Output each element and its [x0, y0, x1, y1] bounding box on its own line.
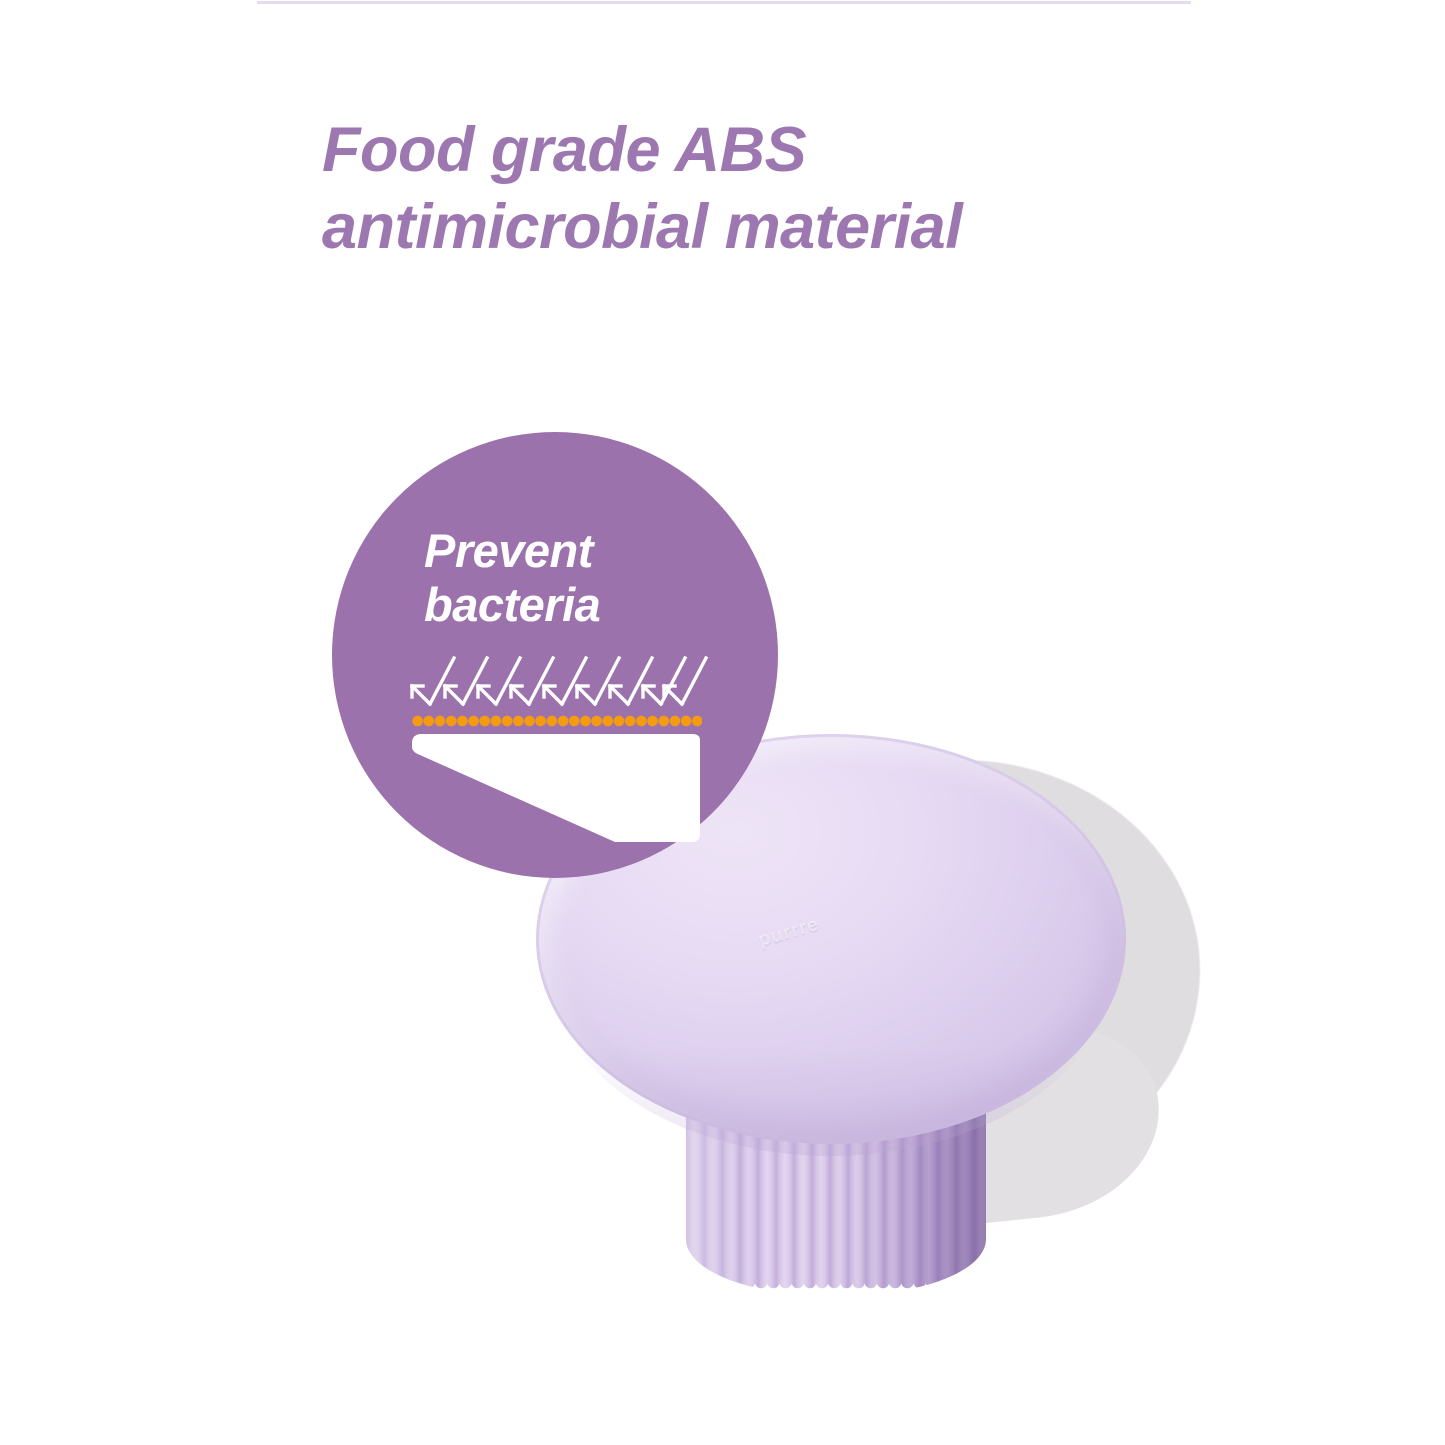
- badge-label: Prevent bacteria: [424, 524, 724, 631]
- deflection-diagram: [410, 654, 710, 844]
- antimicrobial-coating-dots: [412, 714, 702, 728]
- faint-top-divider: [257, 1, 1191, 4]
- page-title: Food grade ABS antimicrobial material: [322, 112, 1222, 266]
- prevent-bacteria-badge: Prevent bacteria: [332, 432, 778, 878]
- poster-canvas: Food grade ABS antimicrobial material pu…: [0, 0, 1445, 1445]
- deflect-arrows-icon: [410, 654, 710, 712]
- bowl-base-scalloped-edge: [686, 1282, 986, 1295]
